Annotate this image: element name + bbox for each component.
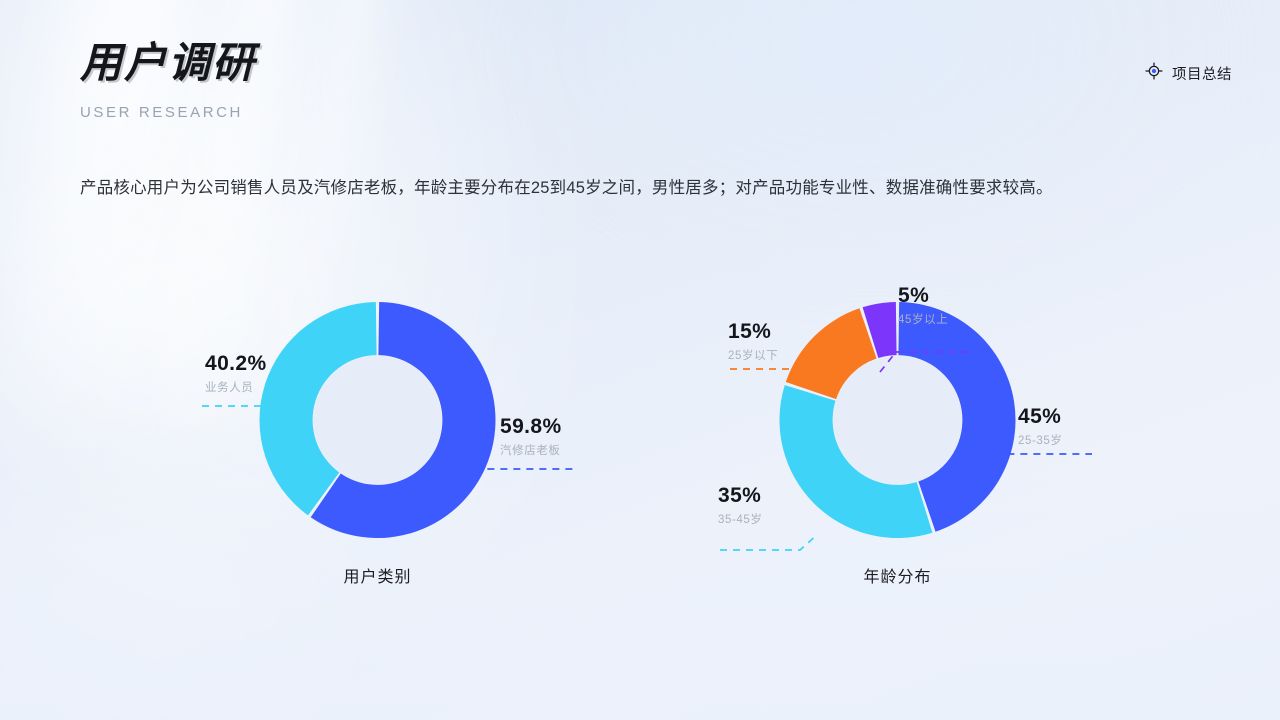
chart-user-category: 用户类别: [235, 295, 520, 587]
donut-age-distribution: [755, 295, 1040, 545]
callout-user-category-0: 40.2% 业务人员: [205, 352, 267, 395]
page-title: 用户调研: [80, 42, 256, 84]
project-summary-label: 项目总结: [1172, 63, 1232, 84]
chart-title-user-category: 用户类别: [235, 563, 520, 587]
donut-svg-user-category: [235, 295, 520, 545]
callout-age-3: 5% 45岁以上: [898, 284, 948, 327]
donut-user-category: [235, 295, 520, 545]
callout-percent: 59.8%: [500, 415, 562, 438]
donut-svg-age-distribution: [755, 295, 1040, 545]
callout-age-2: 15% 25岁以下: [728, 320, 778, 363]
crosshair-target-icon: [1145, 62, 1163, 85]
callout-percent: 40.2%: [205, 352, 267, 375]
project-summary-tag[interactable]: 项目总结: [1145, 62, 1232, 85]
callout-age-0: 45% 25-35岁: [1018, 405, 1063, 448]
callout-age-1: 35% 35-45岁: [718, 484, 763, 527]
chart-title-age-distribution: 年龄分布: [755, 563, 1040, 587]
lead-paragraph: 产品核心用户为公司销售人员及汽修店老板，年龄主要分布在25到45岁之间，男性居多…: [80, 176, 1210, 201]
callout-label: 汽修店老板: [500, 442, 562, 458]
callout-label: 25岁以下: [728, 347, 778, 363]
donut-hole: [313, 356, 442, 485]
callout-percent: 5%: [898, 284, 948, 307]
page-title-block: 用户调研 USER RESEARCH: [80, 42, 256, 121]
callout-label: 45岁以上: [898, 311, 948, 327]
callout-percent: 15%: [728, 320, 778, 343]
chart-age-distribution: 年龄分布: [755, 295, 1040, 587]
callout-percent: 35%: [718, 484, 763, 507]
callout-user-category-1: 59.8% 汽修店老板: [500, 415, 562, 458]
callout-label: 25-35岁: [1018, 432, 1063, 448]
callout-label: 35-45岁: [718, 511, 763, 527]
callout-label: 业务人员: [205, 379, 267, 395]
callout-percent: 45%: [1018, 405, 1063, 428]
donut-hole: [833, 356, 962, 485]
page-subtitle: USER RESEARCH: [80, 104, 256, 121]
